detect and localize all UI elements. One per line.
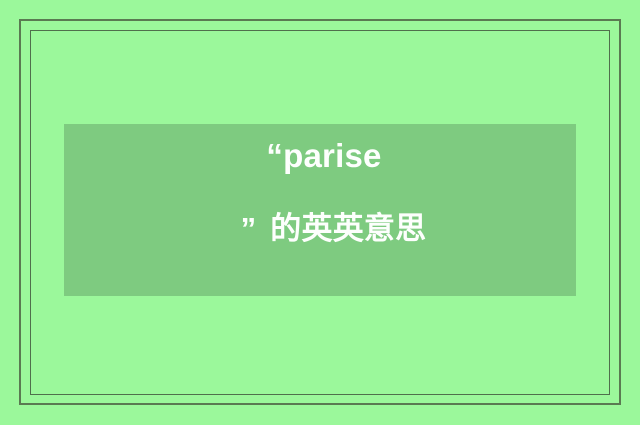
page-canvas: “parise ”的英英意思 <box>0 0 640 425</box>
banner-title-line-1: “parise <box>266 138 381 175</box>
closing-quote-mark: ” <box>241 211 271 246</box>
banner-title-line-2-text: 的英英意思 <box>270 211 426 246</box>
banner-title-line-2: ”的英英意思 <box>188 177 427 281</box>
title-banner: “parise ”的英英意思 <box>64 124 576 296</box>
